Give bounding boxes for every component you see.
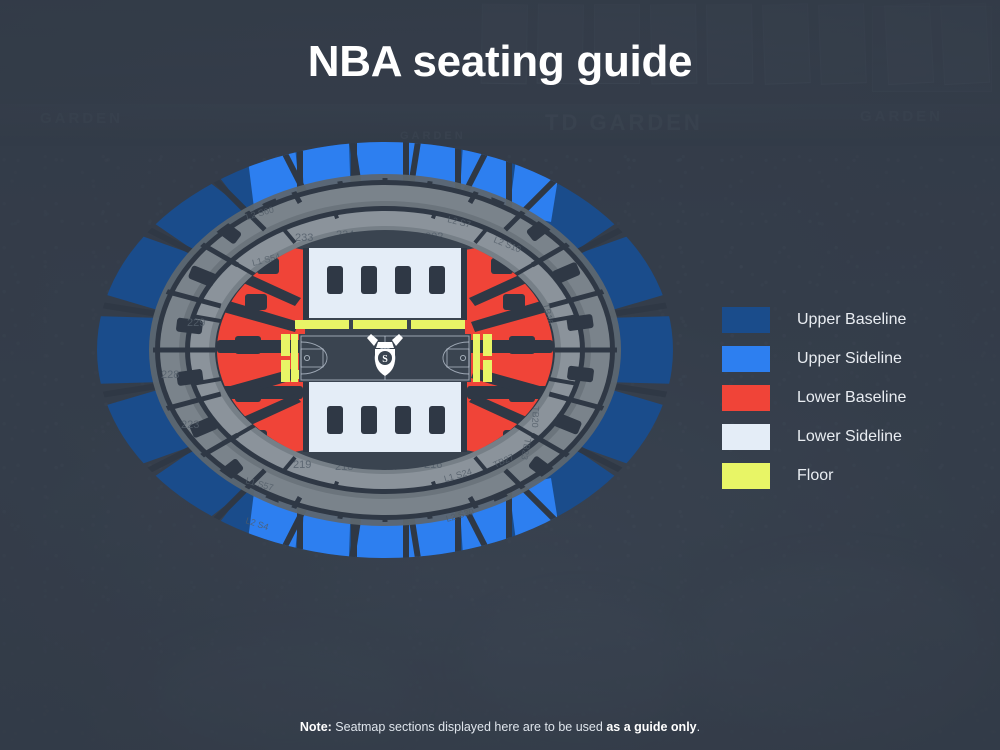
suite-label: TB20 [530,406,541,428]
guide-disclaimer-note: Note: Seatmap sections displayed here ar… [0,720,1000,734]
legend-item-lower-baseline[interactable]: Lower Baseline [722,378,972,417]
svg-text:S: S [382,354,388,365]
legend-swatch-floor [722,463,770,489]
section-label: 223 [181,419,199,431]
legend-label-lower-sideline: Lower Sideline [797,428,902,446]
legend-swatch-lower-sideline [722,424,770,450]
legend-label-upper-sideline: Upper Sideline [797,350,902,368]
legend-label-lower-baseline: Lower Baseline [797,389,906,407]
page-title: NBA seating guide [0,38,1000,86]
lower-sideline-bottom [303,380,467,452]
lower-sideline-top [303,248,467,320]
legend-swatch-upper-baseline [722,307,770,333]
note-body: Seatmap sections displayed here are to b… [332,720,606,734]
legend-item-floor[interactable]: Floor [722,456,972,495]
arena-seatmap[interactable]: 233 234 201 202 219 218 217 216 229 228 … [95,138,675,563]
note-emphasis: as a guide only [606,720,696,734]
legend-item-upper-baseline[interactable]: Upper Baseline [722,300,972,339]
section-label: 233 [295,232,313,244]
section-label: 228 [161,369,179,381]
note-prefix: Note: [300,720,332,734]
seating-legend: Upper Baseline Upper Sideline Lower Base… [722,300,972,495]
section-label: 229 [187,317,205,329]
seating-guide-page: GARDEN TD GARDEN GARDEN GARDEN NBA seati… [0,0,1000,750]
legend-swatch-lower-baseline [722,385,770,411]
section-label: 219 [293,459,311,471]
note-suffix: . [697,720,700,734]
legend-item-lower-sideline[interactable]: Lower Sideline [722,417,972,456]
legend-swatch-upper-sideline [722,346,770,372]
legend-item-upper-sideline[interactable]: Upper Sideline [722,339,972,378]
legend-label-upper-baseline: Upper Baseline [797,311,906,329]
legend-label-floor: Floor [797,467,833,485]
